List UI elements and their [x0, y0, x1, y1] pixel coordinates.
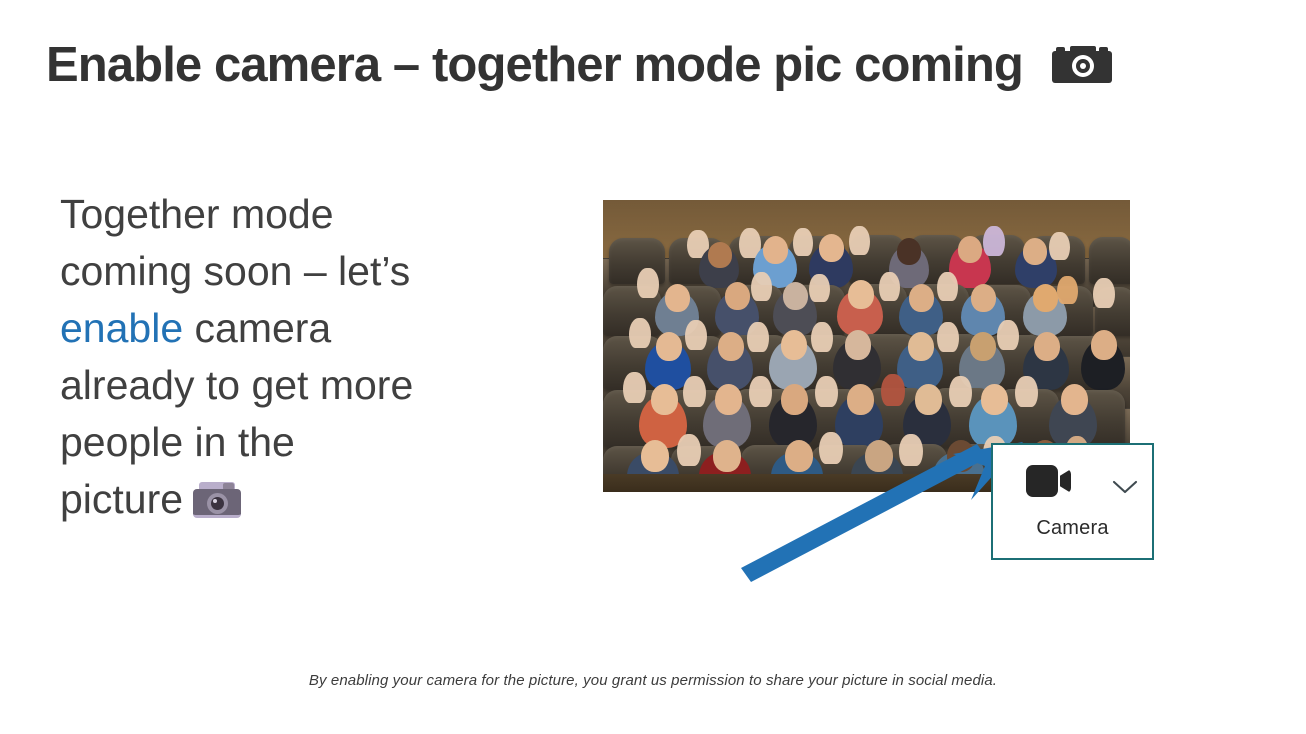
body-line-3-rest: camera [183, 305, 331, 351]
body-line-6: picture [60, 471, 550, 528]
body-line-1: Together mode [60, 186, 550, 243]
footer-disclaimer: By enabling your camera for the picture,… [0, 672, 1306, 689]
body-line-6-text: picture [60, 476, 183, 522]
slide-canvas: Enable camera – together mode pic coming… [0, 0, 1306, 734]
camera-button-label: Camera [993, 517, 1152, 540]
body-line-4: already to get more [60, 357, 550, 414]
page-title: Enable camera – together mode pic coming [46, 36, 1266, 95]
body-line-3: enable camera [60, 300, 550, 357]
video-camera-icon [1026, 465, 1072, 497]
chevron-down-icon[interactable] [1112, 479, 1138, 495]
page-title-text: Enable camera – together mode pic coming [46, 38, 1023, 92]
accent-word-enable: enable [60, 305, 183, 351]
camera-icon [1052, 42, 1112, 91]
camera-emoji-icon [193, 482, 241, 520]
body-line-5: people in the [60, 414, 550, 471]
body-line-2: coming soon – let’s [60, 243, 550, 300]
body-paragraph: Together mode coming soon – let’s enable… [60, 186, 550, 528]
camera-button[interactable]: Camera [991, 443, 1154, 560]
